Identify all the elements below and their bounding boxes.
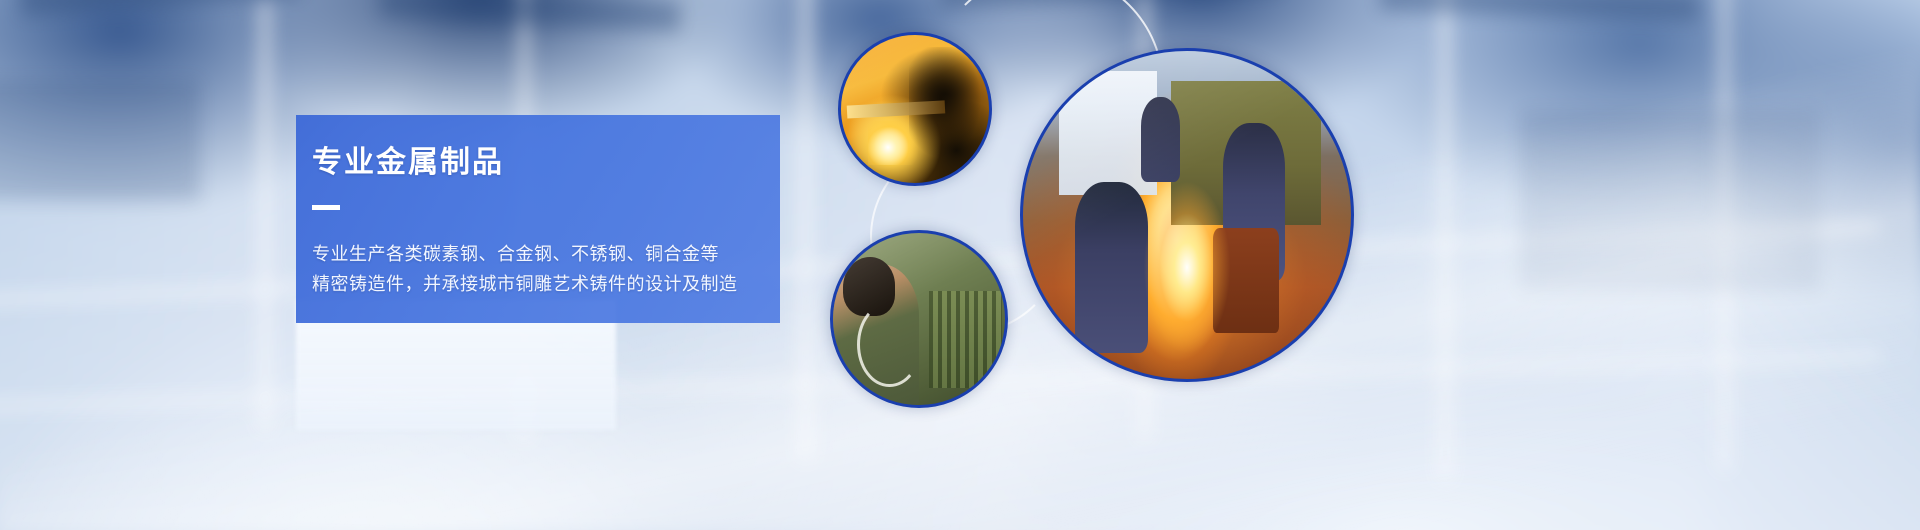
photo-circle-cluster: [810, 0, 1920, 530]
hero-banner: 专业金属制品 专业生产各类碳素钢、合金钢、不锈钢、铜合金等 精密铸造件，并承接城…: [0, 0, 1920, 530]
machine-mass-left: [0, 80, 200, 200]
hero-text-card: 专业金属制品 专业生产各类碳素钢、合金钢、不锈钢、铜合金等 精密铸造件，并承接城…: [296, 115, 780, 323]
ceiling-duct-2: [379, 0, 680, 32]
inspection-air-hose: [857, 302, 921, 387]
photo-circle-welding: [838, 32, 992, 186]
hero-description-line-2: 精密铸造件，并承接城市铜雕艺术铸件的设计及制造: [312, 269, 780, 299]
page-title: 专业金属制品: [304, 145, 780, 181]
welding-sparks: [868, 121, 918, 165]
molten-metal-glow: [1121, 163, 1252, 353]
inspection-parts-rack: [929, 291, 1001, 387]
ceiling-duct-1: [19, 0, 301, 16]
hero-description-line-1: 专业生产各类碳素钢、合金钢、不锈钢、铜合金等: [312, 239, 780, 269]
photo-circle-inspection: [830, 230, 1008, 408]
hero-description: 专业生产各类碳素钢、合金钢、不锈钢、铜合金等 精密铸造件，并承接城市铜雕艺术铸件…: [304, 239, 780, 299]
photo-circle-foundry-pouring: [1020, 48, 1354, 382]
beam-vertical-1: [260, 0, 270, 430]
title-divider: [312, 205, 340, 210]
